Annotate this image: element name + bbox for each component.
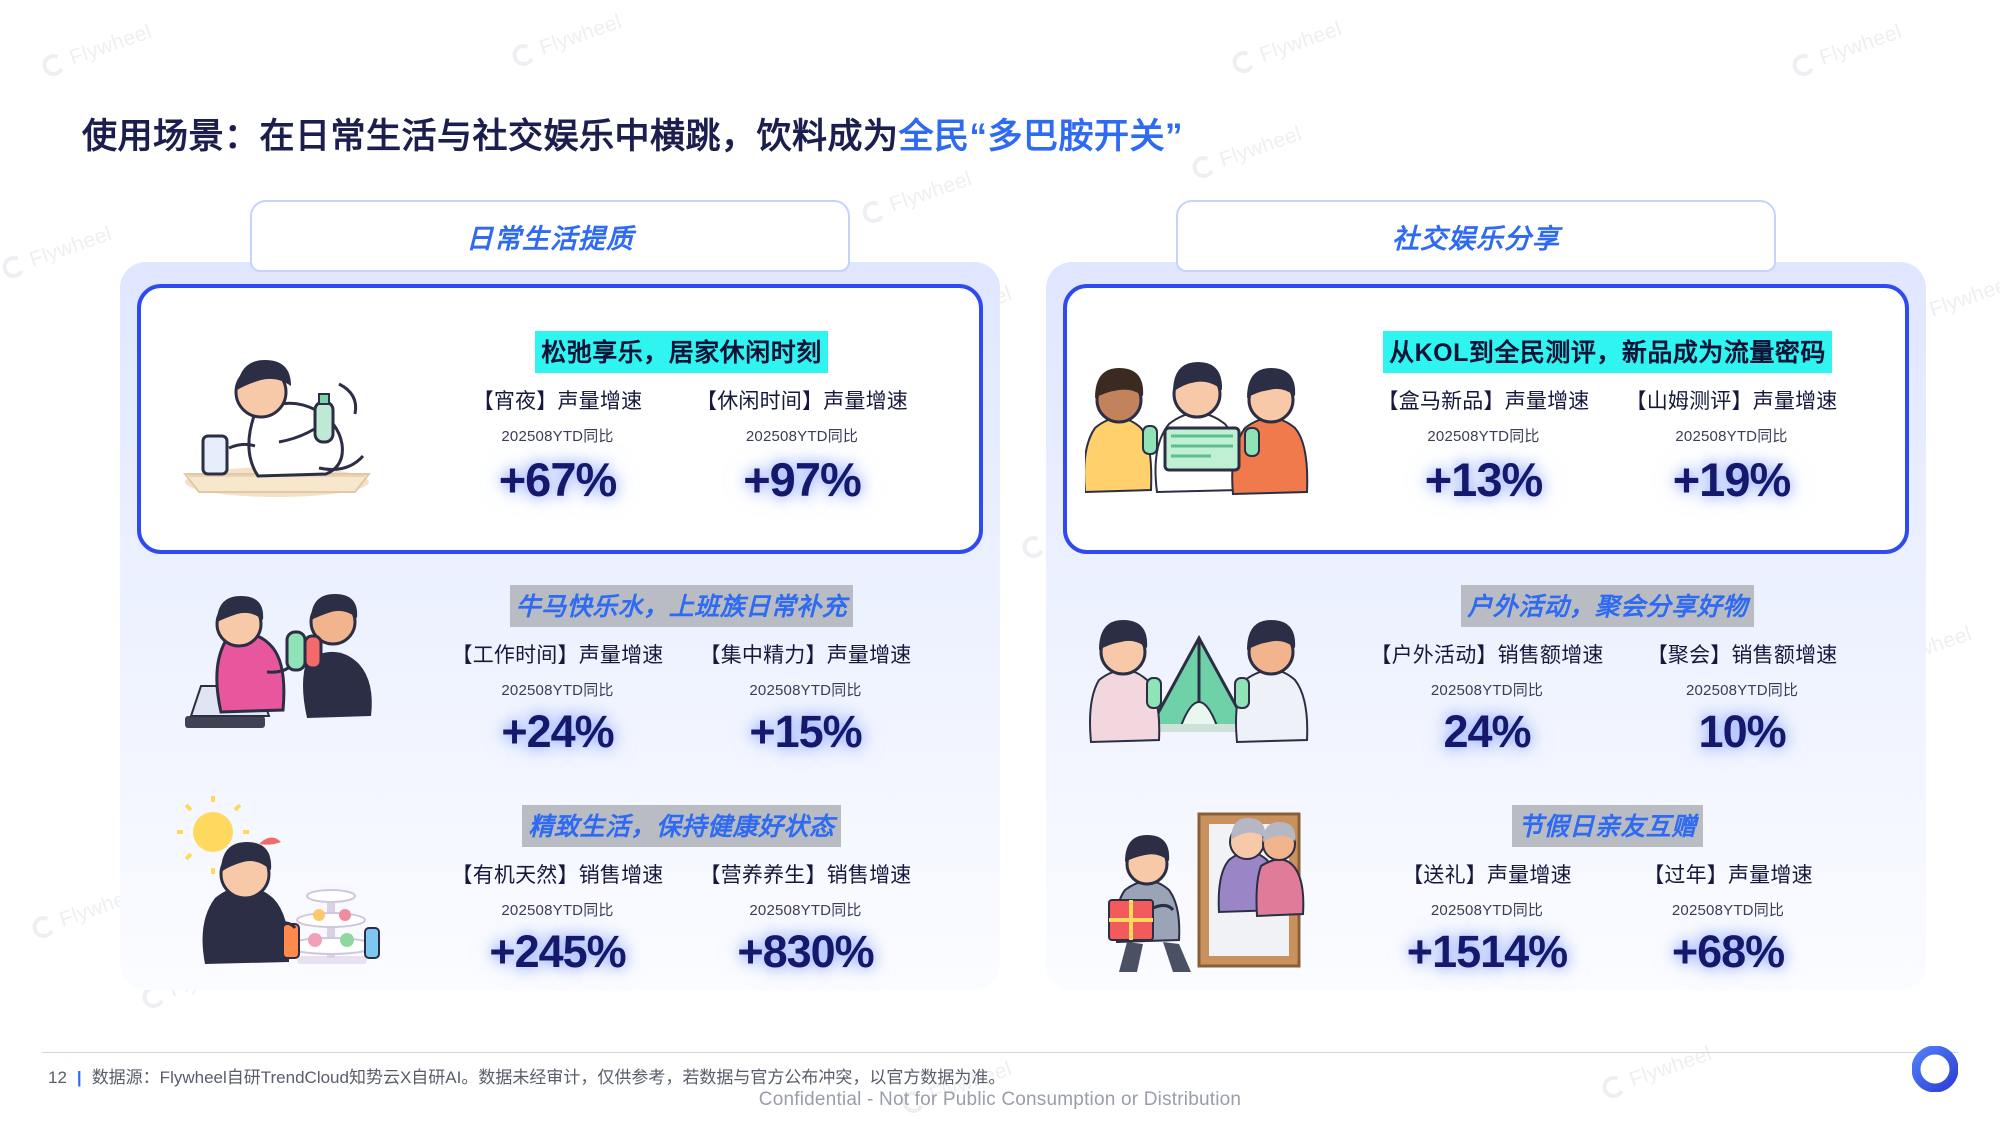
metric-value: +245% xyxy=(489,926,625,978)
flywheel-ring-icon xyxy=(0,253,27,281)
metric-value: 24% xyxy=(1443,706,1530,758)
illustration-person-lounging-with-drink xyxy=(159,324,394,514)
panel-tab-social-entertainment[interactable]: 社交娱乐分享 xyxy=(1176,200,1776,272)
scenario-headline: 从KOL到全民测评，新品成为流量密码 xyxy=(1383,331,1832,373)
scenario-card-hero[interactable]: 松弛享乐，居家休闲时刻 【宵夜】声量增速 202508YTD同比 +67% 【休… xyxy=(137,284,983,554)
metric-card: 【盒马新品】声量增速 202508YTD同比 +13% xyxy=(1378,385,1590,507)
metric-period: 202508YTD同比 xyxy=(746,425,858,446)
metric-card: 【户外活动】销售额增速 202508YTD同比 24% xyxy=(1370,639,1603,758)
scenario-headline: 节假日亲友互赠 xyxy=(1512,805,1703,847)
metric-label: 【户外活动】销售额增速 xyxy=(1370,639,1603,669)
scenario-row[interactable]: 户外活动，聚会分享好物 【户外活动】销售额增速 202508YTD同比 24% … xyxy=(1063,562,1909,780)
metric-period: 202508YTD同比 xyxy=(1427,425,1539,446)
metric-label: 【送礼】声量增速 xyxy=(1402,859,1572,889)
page-title-main: 使用场景：在日常生活与社交娱乐中横跳，饮料成为 xyxy=(82,117,899,156)
metric-group: 【有机天然】销售增速 202508YTD同比 +245% 【营养养生】销售增速 … xyxy=(390,859,973,978)
scenario-content: 从KOL到全民测评，新品成为流量密码 【盒马新品】声量增速 202508YTD同… xyxy=(1320,331,1905,507)
panel-tab-label: 社交娱乐分享 xyxy=(1392,217,1560,256)
scenario-headline: 户外活动，聚会分享好物 xyxy=(1461,585,1754,627)
metric-period: 202508YTD同比 xyxy=(749,679,861,700)
watermark-text: Flywheel xyxy=(537,10,625,60)
flywheel-ring-icon xyxy=(1230,48,1258,76)
metric-card: 【山姆测评】声量增速 202508YTD同比 +19% xyxy=(1626,385,1838,507)
watermark-text: Flywheel xyxy=(67,20,155,70)
footer-divider xyxy=(42,1052,1958,1053)
illustration-couple-camping-with-tent xyxy=(1081,576,1316,766)
metric-value: +15% xyxy=(749,706,861,758)
metric-card: 【集中精力】声量增速 202508YTD同比 +15% xyxy=(700,639,912,758)
metric-value: +97% xyxy=(743,452,861,507)
metric-value: 10% xyxy=(1699,706,1786,758)
scenario-content: 精致生活，保持健康好状态 【有机天然】销售增速 202508YTD同比 +245… xyxy=(390,805,983,978)
metric-group: 【盒马新品】声量增速 202508YTD同比 +13% 【山姆测评】声量增速 2… xyxy=(1320,385,1895,507)
watermark-text: Flywheel xyxy=(1257,17,1345,67)
metric-label: 【营养养生】销售增速 xyxy=(700,859,912,889)
scenario-row[interactable]: 牛马快乐水，上班族日常补充 【工作时间】声量增速 202508YTD同比 +24… xyxy=(137,562,983,780)
panel-tab-daily-life[interactable]: 日常生活提质 xyxy=(250,200,850,272)
flywheel-ring-icon xyxy=(510,41,538,69)
metric-label: 【有机天然】销售增速 xyxy=(452,859,664,889)
metric-label: 【休闲时间】声量增速 xyxy=(696,385,908,415)
scenario-headline: 牛马快乐水，上班族日常补充 xyxy=(510,585,854,627)
metric-label: 【过年】声量增速 xyxy=(1643,859,1813,889)
metric-label: 【宵夜】声量增速 xyxy=(473,385,643,415)
flywheel-logo-icon xyxy=(1912,1046,1958,1092)
slide-canvas: Flywheel Flywheel Flywheel Flywheel Flyw… xyxy=(0,0,2000,1125)
metric-card: 【营养养生】销售增速 202508YTD同比 +830% xyxy=(700,859,912,978)
source-note: 数据源：Flywheel自研TrendCloud知势云X自研AI。数据未经审计，… xyxy=(92,1063,1006,1088)
metric-card: 【宵夜】声量增速 202508YTD同比 +67% xyxy=(455,385,660,507)
scenario-row[interactable]: 节假日亲友互赠 【送礼】声量增速 202508YTD同比 +1514% 【过年】… xyxy=(1063,782,1909,1000)
metric-label: 【集中精力】声量增速 xyxy=(700,639,912,669)
metric-group: 【宵夜】声量增速 202508YTD同比 +67% 【休闲时间】声量增速 202… xyxy=(394,385,969,507)
metric-period: 202508YTD同比 xyxy=(501,425,613,446)
metric-card: 【送礼】声量增速 202508YTD同比 +1514% xyxy=(1385,859,1590,978)
scenario-headline: 精致生活，保持健康好状态 xyxy=(522,805,840,847)
metric-group: 【工作时间】声量增速 202508YTD同比 +24% 【集中精力】声量增速 2… xyxy=(390,639,973,758)
metric-period: 202508YTD同比 xyxy=(1431,899,1543,920)
metric-period: 202508YTD同比 xyxy=(501,679,613,700)
metric-period: 202508YTD同比 xyxy=(501,899,613,920)
metric-value: +830% xyxy=(737,926,873,978)
metric-label: 【聚会】销售额增速 xyxy=(1647,639,1838,669)
flywheel-ring-icon xyxy=(860,198,888,226)
metric-value: +1514% xyxy=(1407,926,1567,978)
page-number: 12 xyxy=(48,1068,67,1088)
metric-label: 【工作时间】声量增速 xyxy=(452,639,664,669)
panel-tab-label: 日常生活提质 xyxy=(466,217,634,256)
scenario-headline: 松弛享乐，居家休闲时刻 xyxy=(535,331,828,373)
watermark-text: Flywheel xyxy=(1817,20,1905,70)
watermark-text: Flywheel xyxy=(1217,122,1305,172)
flywheel-ring-icon xyxy=(1020,533,1048,561)
confidential-notice: Confidential - Not for Public Consumptio… xyxy=(0,1089,2000,1111)
metric-card: 【休闲时间】声量增速 202508YTD同比 +97% xyxy=(696,385,908,507)
metric-value: +13% xyxy=(1425,452,1543,507)
metric-label: 【盒马新品】声量增速 xyxy=(1378,385,1590,415)
metric-group: 【户外活动】销售额增速 202508YTD同比 24% 【聚会】销售额增速 20… xyxy=(1316,639,1899,758)
metric-card: 【工作时间】声量增速 202508YTD同比 +24% xyxy=(452,639,664,758)
metric-period: 202508YTD同比 xyxy=(1431,679,1543,700)
watermark-text: Flywheel xyxy=(27,222,115,272)
scenario-content: 牛马快乐水，上班族日常补充 【工作时间】声量增速 202508YTD同比 +24… xyxy=(390,585,983,758)
panel-social-entertainment: 社交娱乐分享 xyxy=(1046,262,1926,990)
flywheel-ring-icon xyxy=(1190,153,1218,181)
metric-value: +68% xyxy=(1672,926,1784,978)
scenario-content: 户外活动，聚会分享好物 【户外活动】销售额增速 202508YTD同比 24% … xyxy=(1316,585,1909,758)
metric-value: +19% xyxy=(1673,452,1791,507)
page-title-highlight: 全民“多巴胺开关” xyxy=(899,117,1184,156)
watermark-text: Flywheel xyxy=(1627,1042,1715,1092)
flywheel-ring-icon xyxy=(40,51,68,79)
metric-value: +67% xyxy=(499,452,617,507)
footer-separator: | xyxy=(77,1068,82,1088)
footer: 12 | 数据源：Flywheel自研TrendCloud知势云X自研AI。数据… xyxy=(48,1063,1005,1088)
metric-card: 【聚会】销售额增速 202508YTD同比 10% xyxy=(1640,639,1845,758)
metric-period: 202508YTD同比 xyxy=(1675,425,1787,446)
metric-period: 202508YTD同比 xyxy=(1686,679,1798,700)
scenario-card-hero[interactable]: 从KOL到全民测评，新品成为流量密码 【盒马新品】声量增速 202508YTD同… xyxy=(1063,284,1909,554)
illustration-man-delivering-gift-to-elders xyxy=(1081,796,1316,986)
metric-label: 【山姆测评】声量增速 xyxy=(1626,385,1838,415)
flywheel-ring-icon xyxy=(30,913,58,941)
watermark-text: Flywheel xyxy=(1927,272,2000,322)
metric-group: 【送礼】声量增速 202508YTD同比 +1514% 【过年】声量增速 202… xyxy=(1316,859,1899,978)
metric-period: 202508YTD同比 xyxy=(749,899,861,920)
watermark-text: Flywheel xyxy=(887,167,975,217)
panel-daily-life: 日常生活提质 xyxy=(120,262,1000,990)
scenario-content: 松弛享乐，居家休闲时刻 【宵夜】声量增速 202508YTD同比 +67% 【休… xyxy=(394,331,979,507)
flywheel-ring-icon xyxy=(1790,51,1818,79)
scenario-content: 节假日亲友互赠 【送礼】声量增速 202508YTD同比 +1514% 【过年】… xyxy=(1316,805,1909,978)
scenario-row[interactable]: 精致生活，保持健康好状态 【有机天然】销售增速 202508YTD同比 +245… xyxy=(137,782,983,1000)
illustration-three-friends-sharing-drinks xyxy=(1085,324,1320,514)
metric-period: 202508YTD同比 xyxy=(1672,899,1784,920)
page-title: 使用场景：在日常生活与社交娱乐中横跳，饮料成为全民“多巴胺开关” xyxy=(82,108,1183,159)
illustration-two-office-workers-with-drinks xyxy=(155,576,390,766)
illustration-woman-with-afternoon-tea-stand xyxy=(155,796,390,986)
metric-card: 【有机天然】销售增速 202508YTD同比 +245% xyxy=(452,859,664,978)
metric-card: 【过年】声量增速 202508YTD同比 +68% xyxy=(1626,859,1831,978)
metric-value: +24% xyxy=(501,706,613,758)
